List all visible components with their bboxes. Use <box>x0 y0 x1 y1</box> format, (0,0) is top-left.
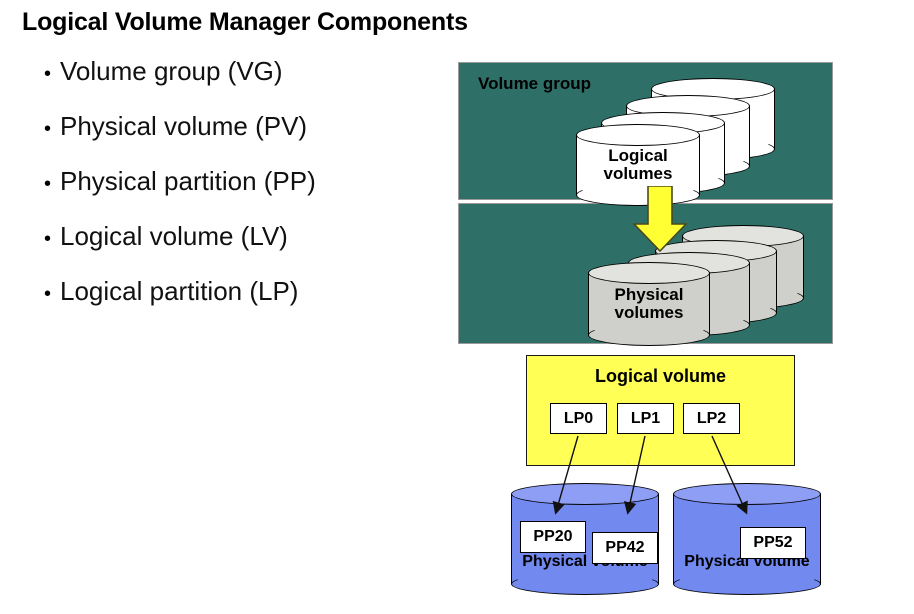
cylinder-top <box>511 483 659 505</box>
physical-partition-pp42[interactable]: PP42 <box>592 532 658 564</box>
physical-volume-cylinder-1: Physical volumes <box>588 262 710 346</box>
logical-partition-lp1[interactable]: LP1 <box>617 403 674 434</box>
cylinder-bottom <box>673 573 821 595</box>
list-item: • Logical volume (LV) <box>44 221 444 276</box>
slide-canvas: Logical Volume Manager Components • Volu… <box>0 0 914 614</box>
list-item-label: Physical partition (PP) <box>60 166 316 197</box>
logical-volumes-label-line2: volumes <box>576 165 700 183</box>
list-item-label: Logical volume (LV) <box>60 221 288 252</box>
bullet-icon: • <box>44 174 60 194</box>
logical-volume-box-title: Logical volume <box>527 366 794 387</box>
physical-volumes-label: Physical volumes <box>588 286 710 322</box>
bullet-icon: • <box>44 284 60 304</box>
cylinder-bottom <box>511 573 659 595</box>
list-item: • Physical partition (PP) <box>44 166 444 221</box>
volume-group-label: Volume group <box>478 74 591 94</box>
component-bullet-list: • Volume group (VG) • Physical volume (P… <box>44 56 444 331</box>
down-arrow-icon <box>633 186 687 252</box>
logical-volumes-label-line1: Logical <box>576 147 700 165</box>
bullet-icon: • <box>44 119 60 139</box>
bullet-icon: • <box>44 64 60 84</box>
list-item-label: Logical partition (LP) <box>60 276 298 307</box>
logical-partition-lp0[interactable]: LP0 <box>550 403 607 434</box>
logical-volumes-label: Logical volumes <box>576 147 700 183</box>
page-title: Logical Volume Manager Components <box>22 8 468 37</box>
list-item-label: Volume group (VG) <box>60 56 283 87</box>
cylinder-top <box>673 483 821 505</box>
bullet-icon: • <box>44 229 60 249</box>
physical-partition-pp20[interactable]: PP20 <box>520 521 586 553</box>
cylinder-bottom <box>588 324 710 346</box>
physical-partition-pp52[interactable]: PP52 <box>740 527 806 559</box>
list-item: • Physical volume (PV) <box>44 111 444 166</box>
logical-partition-lp2[interactable]: LP2 <box>683 403 740 434</box>
list-item-label: Physical volume (PV) <box>60 111 307 142</box>
cylinder-top <box>588 262 710 284</box>
cylinder-top <box>576 124 700 146</box>
physical-volumes-label-line2: volumes <box>588 304 710 322</box>
list-item: • Logical partition (LP) <box>44 276 444 331</box>
physical-volumes-label-line1: Physical <box>588 286 710 304</box>
list-item: • Volume group (VG) <box>44 56 444 111</box>
